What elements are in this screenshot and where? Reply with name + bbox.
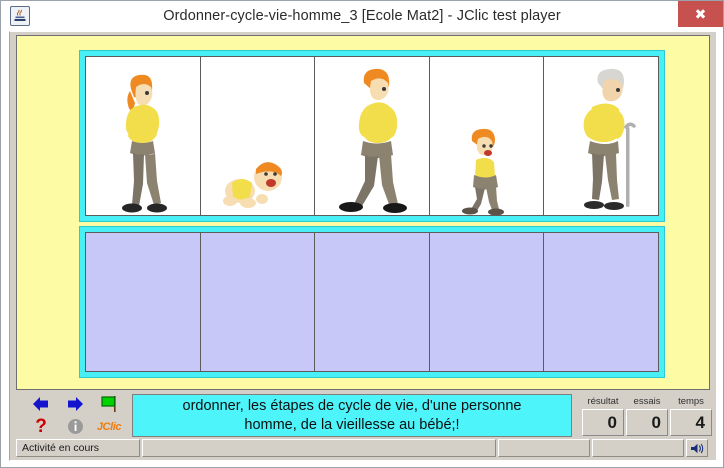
close-button[interactable]: ✖ (678, 1, 723, 27)
message-line-1: ordonner, les étapes de cycle de vie, d'… (183, 398, 522, 414)
activity-index-button[interactable] (92, 394, 126, 415)
target-strip (79, 226, 665, 378)
counter-temps-value: 4 (670, 409, 712, 436)
baby-crawling-figure (222, 155, 292, 211)
message-text: ordonner, les étapes de cycle de vie, d'… (183, 397, 522, 433)
right-arrow-icon (65, 395, 85, 413)
counter-temps-label: temps (670, 395, 712, 409)
target-cell-2[interactable] (201, 233, 316, 371)
target-cell-3[interactable] (315, 233, 430, 371)
target-cell-5[interactable] (544, 233, 658, 371)
speaker-icon (690, 442, 705, 455)
counter-essais: essais 0 (626, 395, 668, 436)
activity-canvas (16, 35, 710, 390)
nav-button-group: ? JClic (24, 393, 126, 438)
counter-resultat-value: 0 (582, 409, 624, 436)
counter-resultat: résultat 0 (582, 395, 624, 436)
source-cell-5[interactable] (544, 57, 658, 215)
source-cell-4[interactable] (430, 57, 545, 215)
status-activity-label: Activité en cours (16, 439, 140, 457)
info-button[interactable] (58, 416, 92, 437)
client-area: ? JClic ordonner, les étapes de cycle de… (9, 31, 717, 461)
counter-group: résultat 0 essais 0 temps 4 (582, 395, 714, 436)
help-button[interactable]: ? (24, 416, 58, 437)
counter-temps: temps 4 (670, 395, 712, 436)
status-field-b (592, 439, 684, 457)
left-arrow-icon (31, 395, 51, 413)
status-bar: Activité en cours (16, 438, 710, 458)
message-line-2: homme, de la vieillesse au bébé;! (244, 417, 459, 433)
prev-activity-button[interactable] (24, 394, 58, 415)
counter-essais-label: essais (626, 395, 668, 409)
teenager-walking-figure (106, 69, 180, 215)
source-strip (79, 50, 665, 222)
jclic-window: Ordonner-cycle-vie-homme_3 [Ecole Mat2] … (0, 0, 724, 468)
elderly-man-with-cane-figure (562, 65, 640, 215)
next-activity-button[interactable] (58, 394, 92, 415)
source-cell-3[interactable] (315, 57, 430, 215)
control-bar: ? JClic ordonner, les étapes de cycle de… (16, 392, 710, 439)
target-cell-1[interactable] (86, 233, 201, 371)
source-cell-1[interactable] (86, 57, 201, 215)
target-cell-4[interactable] (430, 233, 545, 371)
source-grid (85, 56, 659, 216)
young-man-walking-figure (329, 65, 415, 215)
titlebar: Ordonner-cycle-vie-homme_3 [Ecole Mat2] … (1, 1, 723, 31)
child-walking-figure (458, 127, 516, 215)
jclic-logo-button[interactable]: JClic (92, 416, 126, 437)
audio-toggle-button[interactable] (686, 439, 708, 457)
counter-essais-value: 0 (626, 409, 668, 436)
source-cell-2[interactable] (201, 57, 316, 215)
info-icon (67, 418, 84, 435)
target-grid (85, 232, 659, 372)
message-box: ordonner, les étapes de cycle de vie, d'… (132, 394, 572, 437)
flag-icon (100, 395, 119, 413)
counter-resultat-label: résultat (582, 395, 624, 409)
status-field-a (498, 439, 590, 457)
status-progress-field (142, 439, 496, 457)
window-title: Ordonner-cycle-vie-homme_3 [Ecole Mat2] … (1, 1, 723, 31)
